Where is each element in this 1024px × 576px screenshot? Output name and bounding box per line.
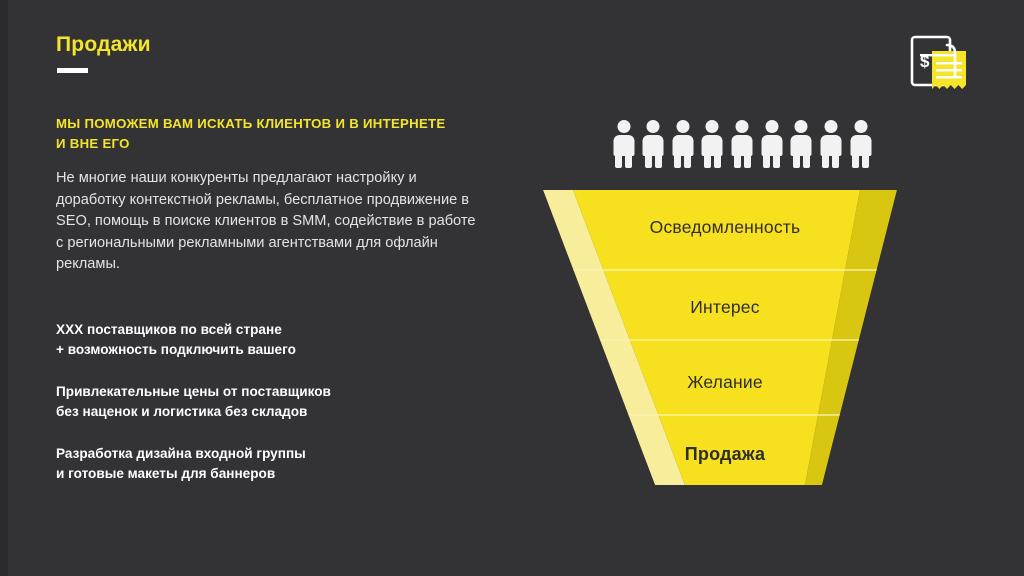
people-icon-row <box>613 118 871 168</box>
funnel-stage-label-3: Желание <box>530 372 920 393</box>
funnel-stage-label-2: Интерес <box>530 297 920 318</box>
invoice-receipt-icon: $ <box>906 31 972 97</box>
list-item: XXX поставщиков по всей стране+ возможно… <box>56 320 456 359</box>
person-icon <box>702 120 723 168</box>
slide-root: Продажи $ МЫ ПОМОЖЕМ ВАМ ИСКАТЬ КЛИЕНТОВ… <box>0 0 1024 576</box>
bullet-list: XXX поставщиков по всей стране+ возможно… <box>56 320 456 483</box>
list-item: Привлекательные цены от поставщиковбез н… <box>56 382 456 421</box>
lead-headline: МЫ ПОМОЖЕМ ВАМ ИСКАТЬ КЛИЕНТОВ И В ИНТЕР… <box>56 114 456 154</box>
list-item: Разработка дизайна входной группыи готов… <box>56 444 456 483</box>
person-icon <box>820 120 841 168</box>
person-icon <box>732 120 753 168</box>
person-icon <box>791 120 812 168</box>
person-icon <box>672 120 693 168</box>
person-icon <box>761 120 782 168</box>
sales-funnel-diagram: Осведомленность Интерес Желание Продажа <box>530 180 920 500</box>
person-icon <box>850 120 871 168</box>
footer: ERA-AUTO.RU Презентация франшизы <box>0 505 1024 555</box>
person-icon <box>613 120 634 168</box>
body-paragraph: Не многие наши конкуренты предлагают нас… <box>56 168 486 276</box>
person-icon <box>643 120 664 168</box>
page-title: Продажи <box>56 33 151 57</box>
left-edge-strip <box>0 0 8 576</box>
funnel-stage-label-1: Осведомленность <box>530 217 920 238</box>
title-underline-rule <box>57 68 88 73</box>
funnel-stage-label-4: Продажа <box>530 444 920 465</box>
